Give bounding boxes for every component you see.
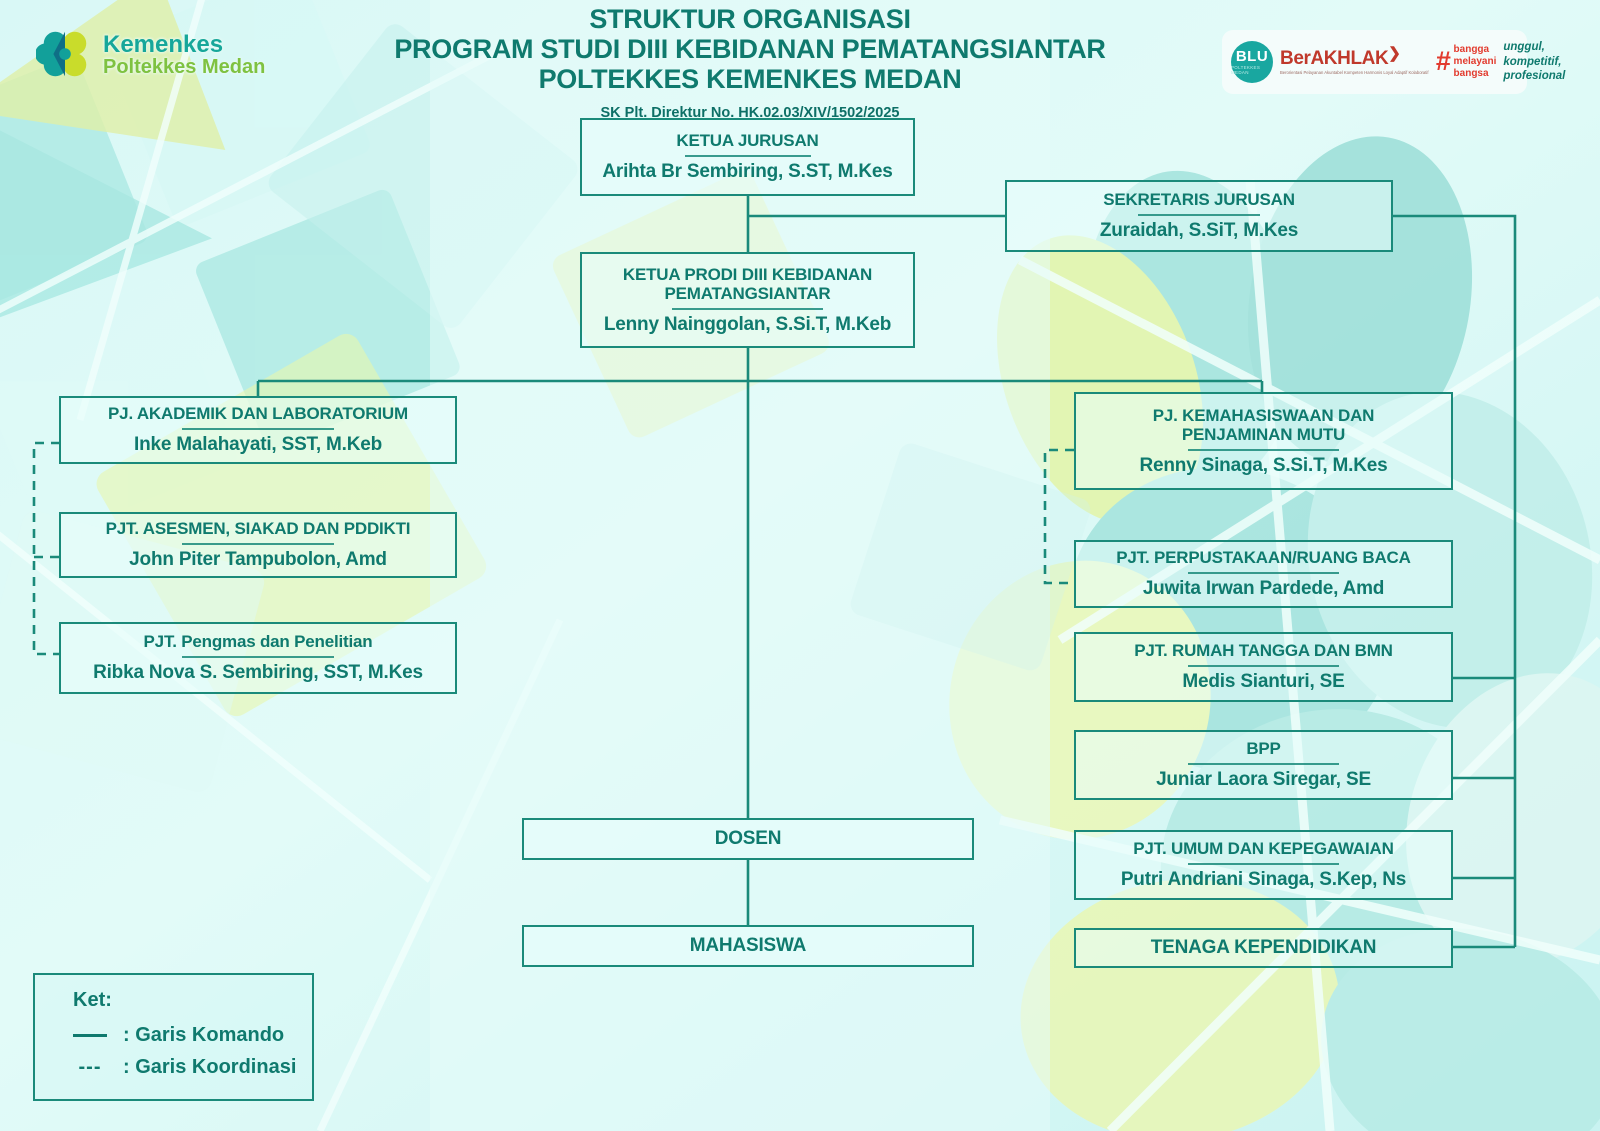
kemenkes-clover-icon	[36, 26, 94, 84]
node-divider	[1188, 863, 1339, 865]
legend-label-komando: : Garis Komando	[123, 1024, 284, 1047]
node-person: Lenny Nainggolan, S.Si.T, M.Keb	[604, 314, 891, 335]
node-role: MAHASISWA	[690, 935, 806, 956]
node-ketua-prodi[interactable]: KETUA PRODI DIII KEBIDANAN PEMATANGSIANT…	[580, 252, 915, 348]
page-title: STRUKTUR ORGANISASI PROGRAM STUDI DIII K…	[330, 4, 1170, 121]
node-role: KETUA JURUSAN	[676, 131, 818, 150]
node-pjt-pengmas-penelitian[interactable]: PJT. Pengmas dan Penelitian Ribka Nova S…	[59, 622, 457, 694]
berakhlak-arrow-icon: ❯	[1388, 45, 1400, 62]
node-person: Juwita Irwan Pardede, Amd	[1143, 578, 1384, 599]
org-chart: KETUA JURUSAN Arihta Br Sembiring, S.ST,…	[0, 0, 1600, 1131]
node-ketua-jurusan[interactable]: KETUA JURUSAN Arihta Br Sembiring, S.ST,…	[580, 118, 915, 196]
legend-title: Ket:	[73, 989, 312, 1012]
legend: Ket: : Garis Komando --- : Garis Koordin…	[33, 973, 314, 1101]
node-pjt-perpustakaan-ruang-baca[interactable]: PJT. PERPUSTAKAAN/RUANG BACA Juwita Irwa…	[1074, 540, 1453, 608]
bangga-line3: bangsa	[1454, 68, 1497, 80]
node-person: Putri Andriani Sinaga, S.Kep, Ns	[1121, 869, 1406, 890]
node-mahasiswa[interactable]: MAHASISWA	[522, 925, 974, 967]
node-pj-akademik-laboratorium[interactable]: PJ. AKADEMIK DAN LABORATORIUM Inke Malah…	[59, 396, 457, 464]
node-dosen[interactable]: DOSEN	[522, 818, 974, 860]
tagline-line1: unggul,	[1503, 40, 1565, 54]
node-role: SEKRETARIS JURUSAN	[1103, 190, 1295, 209]
node-pjt-rumah-tangga-bmn[interactable]: PJT. RUMAH TANGGA DAN BMN Medis Sianturi…	[1074, 632, 1453, 702]
kemenkes-logo-line2: Poltekkes Medan	[103, 57, 265, 77]
node-role: PJT. UMUM DAN KEPEGAWAIAN	[1133, 839, 1393, 858]
node-divider	[1138, 214, 1259, 216]
blu-logo-icon: BLU POLTEKKES MEDAN	[1231, 41, 1273, 83]
title-line-1: STRUKTUR ORGANISASI	[330, 4, 1170, 34]
node-role: PJT. RUMAH TANGGA DAN BMN	[1134, 641, 1393, 660]
node-role: PJ. AKADEMIK DAN LABORATORIUM	[108, 404, 408, 423]
legend-row-komando: : Garis Komando	[73, 1024, 312, 1047]
node-role: PJT. PERPUSTAKAAN/RUANG BACA	[1116, 548, 1410, 567]
node-role: PJ. KEMAHASISWAAN DAN PENJAMINAN MUTU	[1114, 406, 1414, 444]
node-person: Renny Sinaga, S.Si.T, M.Kes	[1139, 455, 1387, 476]
kemenkes-logo: Kemenkes Poltekkes Medan	[36, 26, 265, 84]
node-role: BPP	[1246, 739, 1280, 758]
node-divider	[1188, 449, 1339, 451]
node-divider	[1188, 572, 1339, 574]
node-divider	[182, 428, 333, 430]
node-bpp[interactable]: BPP Juniar Laora Siregar, SE	[1074, 730, 1453, 800]
node-pjt-asesmen-siakad-pddikti[interactable]: PJT. ASESMEN, SIAKAD DAN PDDIKTI John Pi…	[59, 512, 457, 578]
tagline-line2: kompetitif,	[1503, 55, 1565, 69]
node-pj-kemahasiswaan-penjaminan-mutu[interactable]: PJ. KEMAHASISWAAN DAN PENJAMINAN MUTU Re…	[1074, 392, 1453, 490]
berakhlak-text: BerAKHLAK	[1280, 48, 1388, 69]
node-role: PJT. Pengmas dan Penelitian	[144, 632, 373, 651]
legend-label-koordinasi: : Garis Koordinasi	[123, 1056, 296, 1079]
node-person: Ribka Nova S. Sembiring, SST, M.Kes	[93, 662, 423, 683]
kemenkes-logo-line1: Kemenkes	[103, 33, 265, 57]
bangga-melayani-bangsa-logo: # bangga melayani bangsa	[1436, 44, 1497, 79]
node-role: DOSEN	[715, 828, 782, 849]
berakhlak-logo-strip: BLU POLTEKKES MEDAN BerAKHLAK❯ Berorient…	[1222, 30, 1527, 94]
node-person: Inke Malahayati, SST, M.Keb	[134, 434, 382, 455]
node-divider	[182, 543, 333, 545]
node-role: KETUA PRODI DIII KEBIDANAN PEMATANGSIANT…	[603, 265, 893, 303]
title-line-3: POLTEKKES KEMENKES MEDAN	[330, 64, 1170, 94]
berakhlak-wordmark: BerAKHLAK❯ Berorientasi Pelayanan Akunta…	[1280, 49, 1429, 76]
node-divider	[182, 656, 333, 658]
node-sekretaris-jurusan[interactable]: SEKRETARIS JURUSAN Zuraidah, S.SiT, M.Ke…	[1005, 180, 1393, 252]
dashed-line-icon: ---	[73, 1056, 107, 1079]
bangga-line2: melayani	[1454, 56, 1497, 68]
node-divider	[1188, 665, 1339, 667]
blu-subtext: POLTEKKES MEDAN	[1231, 65, 1273, 75]
hashtag-icon: #	[1436, 48, 1451, 75]
node-person: Zuraidah, S.SiT, M.Kes	[1100, 220, 1298, 241]
node-divider	[1188, 763, 1339, 765]
node-pjt-umum-kepegawaian[interactable]: PJT. UMUM DAN KEPEGAWAIAN Putri Andriani…	[1074, 830, 1453, 900]
node-tenaga-kependidikan[interactable]: TENAGA KEPENDIDIKAN	[1074, 928, 1453, 968]
node-role: PJT. ASESMEN, SIAKAD DAN PDDIKTI	[106, 519, 411, 538]
berakhlak-subtext: Berorientasi Pelayanan Akuntabel Kompete…	[1280, 70, 1429, 76]
bangga-line1: bangga	[1454, 44, 1497, 56]
node-person: John Piter Tampubolon, Amd	[129, 549, 387, 570]
tagline-line3: profesional	[1503, 69, 1565, 83]
node-person: Arihta Br Sembiring, S.ST, M.Kes	[602, 161, 892, 182]
solid-line-icon	[73, 1034, 107, 1037]
node-person: Juniar Laora Siregar, SE	[1156, 769, 1371, 790]
node-divider	[672, 308, 823, 310]
tagline: unggul, kompetitif, profesional	[1503, 40, 1565, 83]
node-divider	[685, 155, 811, 157]
legend-row-koordinasi: --- : Garis Koordinasi	[73, 1056, 312, 1079]
node-person: Medis Sianturi, SE	[1182, 671, 1344, 692]
title-line-2: PROGRAM STUDI DIII KEBIDANAN PEMATANGSIA…	[330, 34, 1170, 64]
blu-text: BLU	[1236, 49, 1268, 64]
sk-reference: SK Plt. Direktur No. HK.02.03/XIV/1502/2…	[330, 105, 1170, 121]
node-role: TENAGA KEPENDIDIKAN	[1151, 937, 1377, 958]
